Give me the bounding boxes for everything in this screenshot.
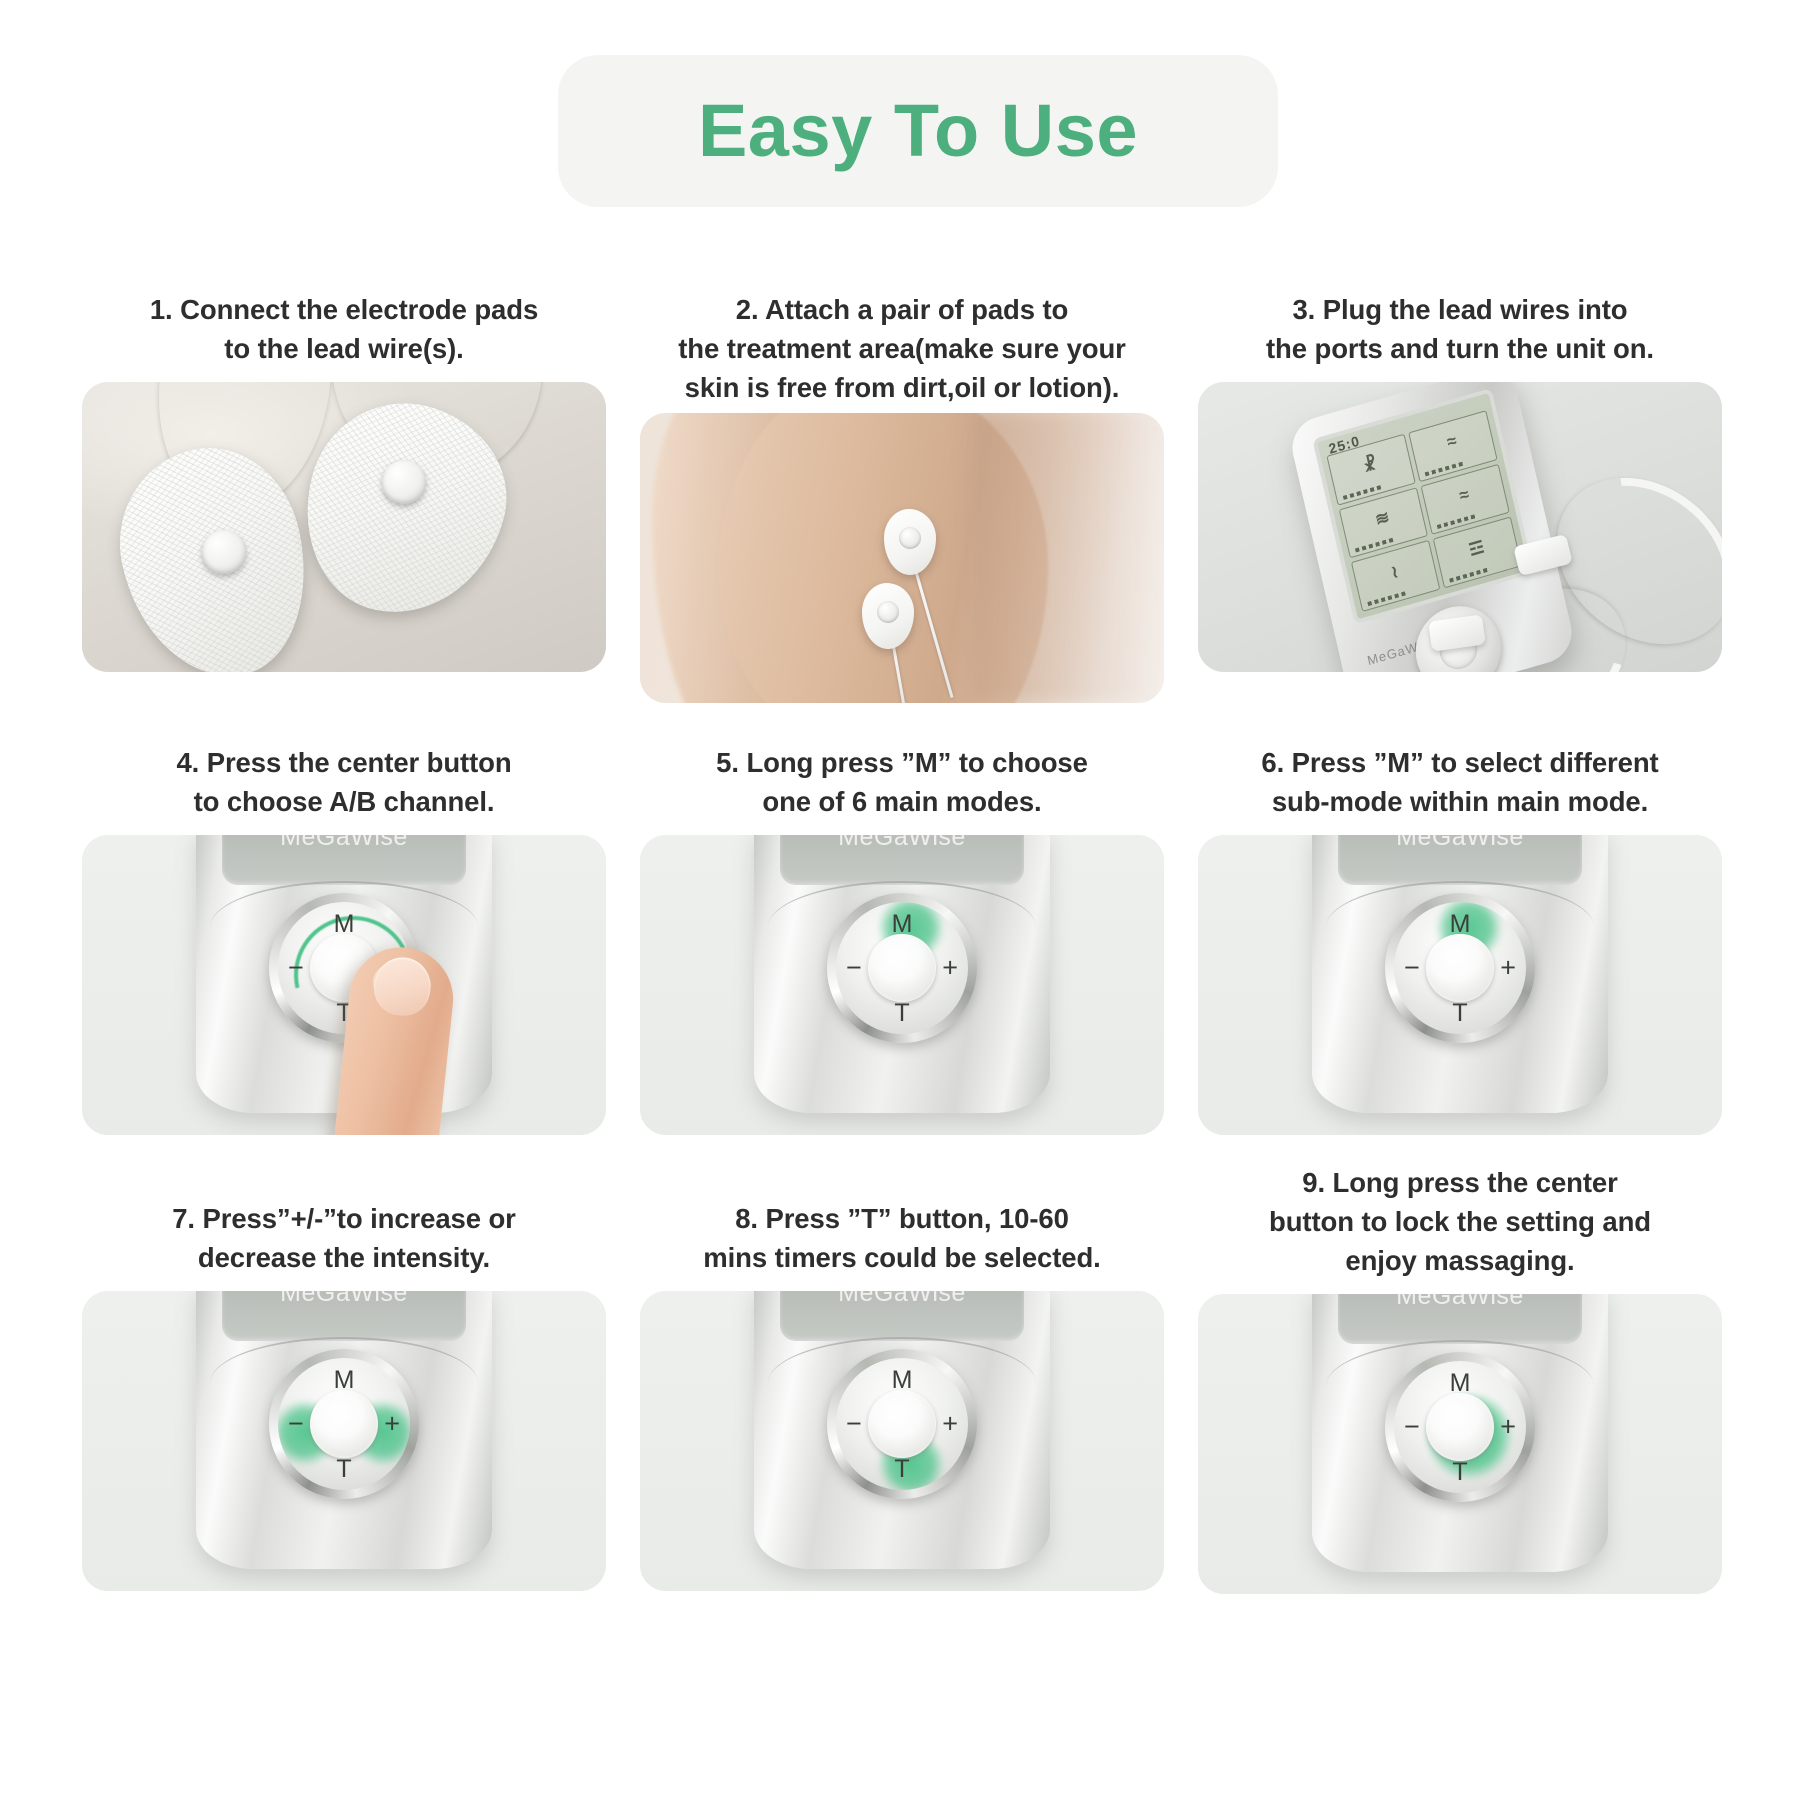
decrease-button-label[interactable]: − [1404,953,1420,984]
caption-line: one of 6 main modes. [646,782,1158,821]
caption-line: 2. Attach a pair of pads to [646,290,1158,329]
increase-button-label[interactable]: + [942,953,958,984]
step-card-7: 7. Press”+/-”to increase or decrease the… [82,1199,606,1594]
step-card-6: 6. Press ”M” to select different sub-mod… [1198,743,1722,1135]
step-caption-5: 5. Long press ”M” to choose one of 6 mai… [640,743,1164,821]
caption-line: 4. Press the center button [88,743,600,782]
step-card-5: 5. Long press ”M” to choose one of 6 mai… [640,743,1164,1135]
timer-button-label[interactable]: T [894,1455,909,1484]
step-card-4: 4. Press the center button to choose A/B… [82,743,606,1135]
step-image-device-t-button: MeGaWise M T − + [640,1291,1164,1591]
center-button[interactable] [868,934,936,1002]
center-button[interactable] [868,1390,936,1458]
device-screen-band: MeGaWise [222,1291,466,1341]
step-image-device-center-pressed: MeGaWise M T − + [82,835,606,1135]
photo-shadow [970,413,1164,703]
step-card-2: 2. Attach a pair of pads to the treatmen… [640,290,1164,703]
control-ring[interactable]: M T − + [269,1349,419,1499]
caption-line: enjoy massaging. [1204,1241,1716,1280]
timer-button-label[interactable]: T [336,1455,351,1484]
caption-line: 9. Long press the center [1204,1163,1716,1202]
step-image-device-m-button: MeGaWise M T − + [640,835,1164,1135]
caption-line: mins timers could be selected. [646,1238,1158,1277]
increase-button-label[interactable]: + [384,1409,400,1440]
device-brand-label: MeGaWise [1338,1294,1582,1311]
timer-button-label[interactable]: T [1452,1458,1467,1487]
step-card-3: 3. Plug the lead wires into the ports an… [1198,290,1722,703]
timer-button-label[interactable]: T [1452,999,1467,1028]
mode-button-label[interactable]: M [334,910,355,939]
lcd-mode-glyph: ≀ [1389,562,1400,583]
step-image-tens-unit-ports: 25:0 ☧ ≈ ≋ ≈ ≀ ☲ MeGaWise [1198,382,1722,672]
fingernail [372,955,434,1019]
caption-line: 6. Press ”M” to select different [1204,743,1716,782]
title-panel: Easy To Use [558,55,1278,207]
center-button[interactable] [310,1390,378,1458]
pad-snap-connector-icon [899,527,921,549]
device-screen-band: MeGaWise [222,835,466,885]
control-ring[interactable]: M T − + [1385,1352,1535,1502]
device-screen-band: MeGaWise [1338,1294,1582,1344]
step-card-9: 9. Long press the center button to lock … [1198,1163,1722,1594]
device-body: MeGaWise M T − + [754,1291,1050,1569]
caption-line: button to lock the setting and [1204,1202,1716,1241]
page-title: Easy To Use [698,94,1138,168]
caption-line: 1. Connect the electrode pads [88,290,600,329]
decrease-button-label[interactable]: − [1404,1412,1420,1443]
caption-line: 7. Press”+/-”to increase or [88,1199,600,1238]
lcd-level-bars [1343,485,1382,500]
mode-button-label[interactable]: M [334,1366,355,1395]
mode-button-label[interactable]: M [892,910,913,939]
device-brand-label: MeGaWise [222,835,466,852]
step-caption-6: 6. Press ”M” to select different sub-mod… [1198,743,1722,821]
center-button[interactable] [1426,1393,1494,1461]
caption-line: decrease the intensity. [88,1238,600,1277]
pad-snap-connector-icon [877,601,899,623]
device-brand-label: MeGaWise [1338,835,1582,852]
steps-grid: 1. Connect the electrode pads to the lea… [82,290,1722,1594]
decrease-button-label[interactable]: − [288,1409,304,1440]
step-caption-4: 4. Press the center button to choose A/B… [82,743,606,821]
control-ring[interactable]: M T − + [827,893,977,1043]
lcd-mode-glyph: ≋ [1373,507,1391,530]
increase-button-label[interactable]: + [1500,953,1516,984]
control-ring[interactable]: M T − + [1385,893,1535,1043]
caption-line: skin is free from dirt,oil or lotion). [646,368,1158,407]
lcd-level-bars [1425,461,1464,476]
device-screen-band: MeGaWise [1338,835,1582,885]
step-card-8: 8. Press ”T” button, 10-60 mins timers c… [640,1199,1164,1594]
device-brand-label: MeGaWise [222,1291,466,1308]
increase-button-label[interactable]: + [1500,1412,1516,1443]
control-ring[interactable]: M T − + [827,1349,977,1499]
caption-line: the ports and turn the unit on. [1204,329,1716,368]
lcd-screen: 25:0 ☧ ≈ ≋ ≈ ≀ ☲ [1312,388,1534,624]
device-body: MeGaWise M T − + [754,835,1050,1113]
infographic-page: Easy To Use 1. Connect the electrode pad… [0,0,1800,1800]
device-brand-label: MeGaWise [780,1291,1024,1308]
step-caption-9: 9. Long press the center button to lock … [1198,1163,1722,1280]
ring-face: M T − + [836,902,968,1034]
ring-face: M T − + [1394,902,1526,1034]
step-image-device-plus-minus: MeGaWise M T − + [82,1291,606,1591]
pad-snap-connector-icon [382,460,426,504]
step-image-leg-with-pads [640,413,1164,703]
lcd-level-bars [1367,591,1406,606]
caption-line: the treatment area(make sure your [646,329,1158,368]
increase-button-label[interactable]: + [942,1409,958,1440]
decrease-button-label[interactable]: − [846,953,862,984]
caption-line: 3. Plug the lead wires into [1204,290,1716,329]
step-image-device-center-lock: MeGaWise M T − + [1198,1294,1722,1594]
decrease-button-label[interactable]: − [846,1409,862,1440]
step-card-1: 1. Connect the electrode pads to the lea… [82,290,606,703]
ring-face: M T − + [836,1358,968,1490]
pad-snap-connector-icon [202,530,246,574]
mode-button-label[interactable]: M [1450,910,1471,939]
caption-line: 8. Press ”T” button, 10-60 [646,1199,1158,1238]
mode-button-label[interactable]: M [892,1366,913,1395]
device-brand-label: MeGaWise [780,835,1024,852]
step-image-electrode-pads [82,382,606,672]
step-image-device-m-submode: MeGaWise M T − + [1198,835,1722,1135]
device-screen-band: MeGaWise [780,835,1024,885]
caption-line: to the lead wire(s). [88,329,600,368]
step-caption-1: 1. Connect the electrode pads to the lea… [82,290,606,368]
step-caption-3: 3. Plug the lead wires into the ports an… [1198,290,1722,368]
lcd-mode-glyph: ☧ [1362,454,1379,477]
ring-face: M T − + [278,1358,410,1490]
step-caption-8: 8. Press ”T” button, 10-60 mins timers c… [640,1199,1164,1277]
step-caption-2: 2. Attach a pair of pads to the treatmen… [640,290,1164,407]
device-body: MeGaWise M T − + [196,1291,492,1569]
caption-line: to choose A/B channel. [88,782,600,821]
center-button[interactable] [1426,934,1494,1002]
device-body: MeGaWise M T − + [1312,835,1608,1113]
timer-button-label[interactable]: T [894,999,909,1028]
caption-line: 5. Long press ”M” to choose [646,743,1158,782]
lcd-mode-glyph: ☲ [1467,537,1486,561]
ring-face: M T − + [1394,1361,1526,1493]
device-screen-band: MeGaWise [780,1291,1024,1341]
step-caption-7: 7. Press”+/-”to increase or decrease the… [82,1199,606,1277]
lcd-mode-glyph: ≈ [1445,431,1458,453]
device-body: MeGaWise M T − + [1312,1294,1608,1572]
mode-button-label[interactable]: M [1450,1369,1471,1398]
decrease-button-label[interactable]: − [288,953,304,984]
caption-line: sub-mode within main mode. [1204,782,1716,821]
lcd-level-bars [1449,568,1488,583]
device-body: MeGaWise M T − + [196,835,492,1113]
lcd-mode-glyph: ≈ [1458,485,1471,507]
